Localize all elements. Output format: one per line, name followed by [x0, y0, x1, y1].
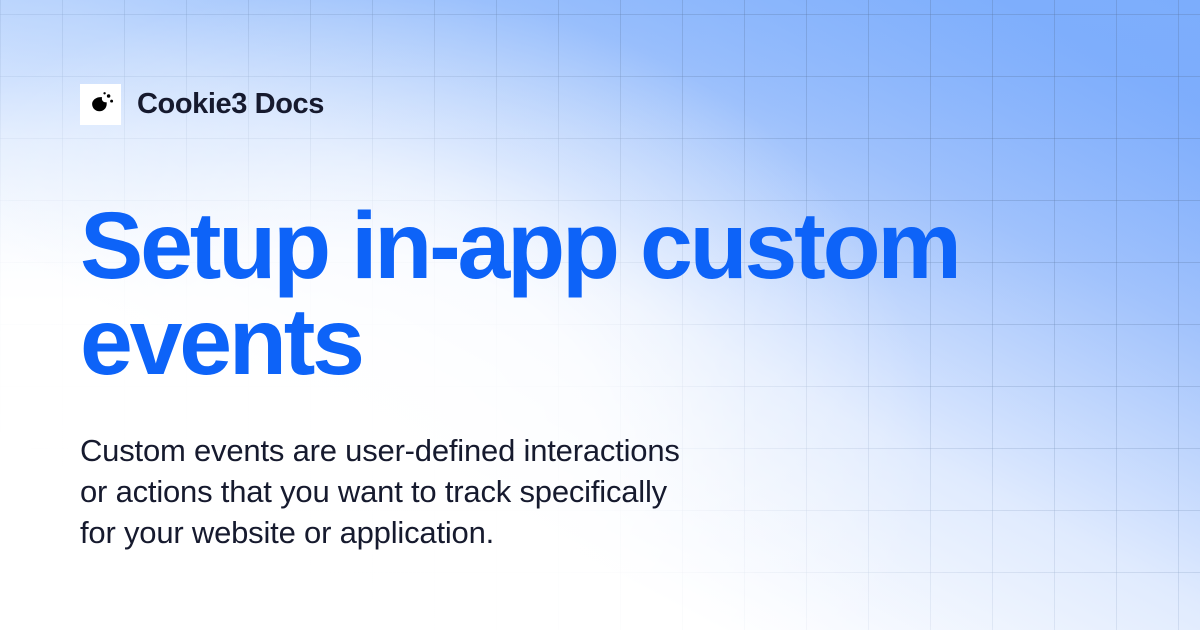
- cookie-icon: [80, 84, 121, 125]
- page-description: Custom events are user-defined interacti…: [80, 430, 900, 553]
- page-title: Setup in-app custom events: [80, 198, 1080, 390]
- og-card: Cookie3 Docs Setup in-app custom events …: [0, 0, 1200, 630]
- brand-name: Cookie3 Docs: [137, 90, 324, 119]
- brand-lockup: Cookie3 Docs: [80, 84, 324, 125]
- card-content: Cookie3 Docs Setup in-app custom events …: [0, 0, 1200, 630]
